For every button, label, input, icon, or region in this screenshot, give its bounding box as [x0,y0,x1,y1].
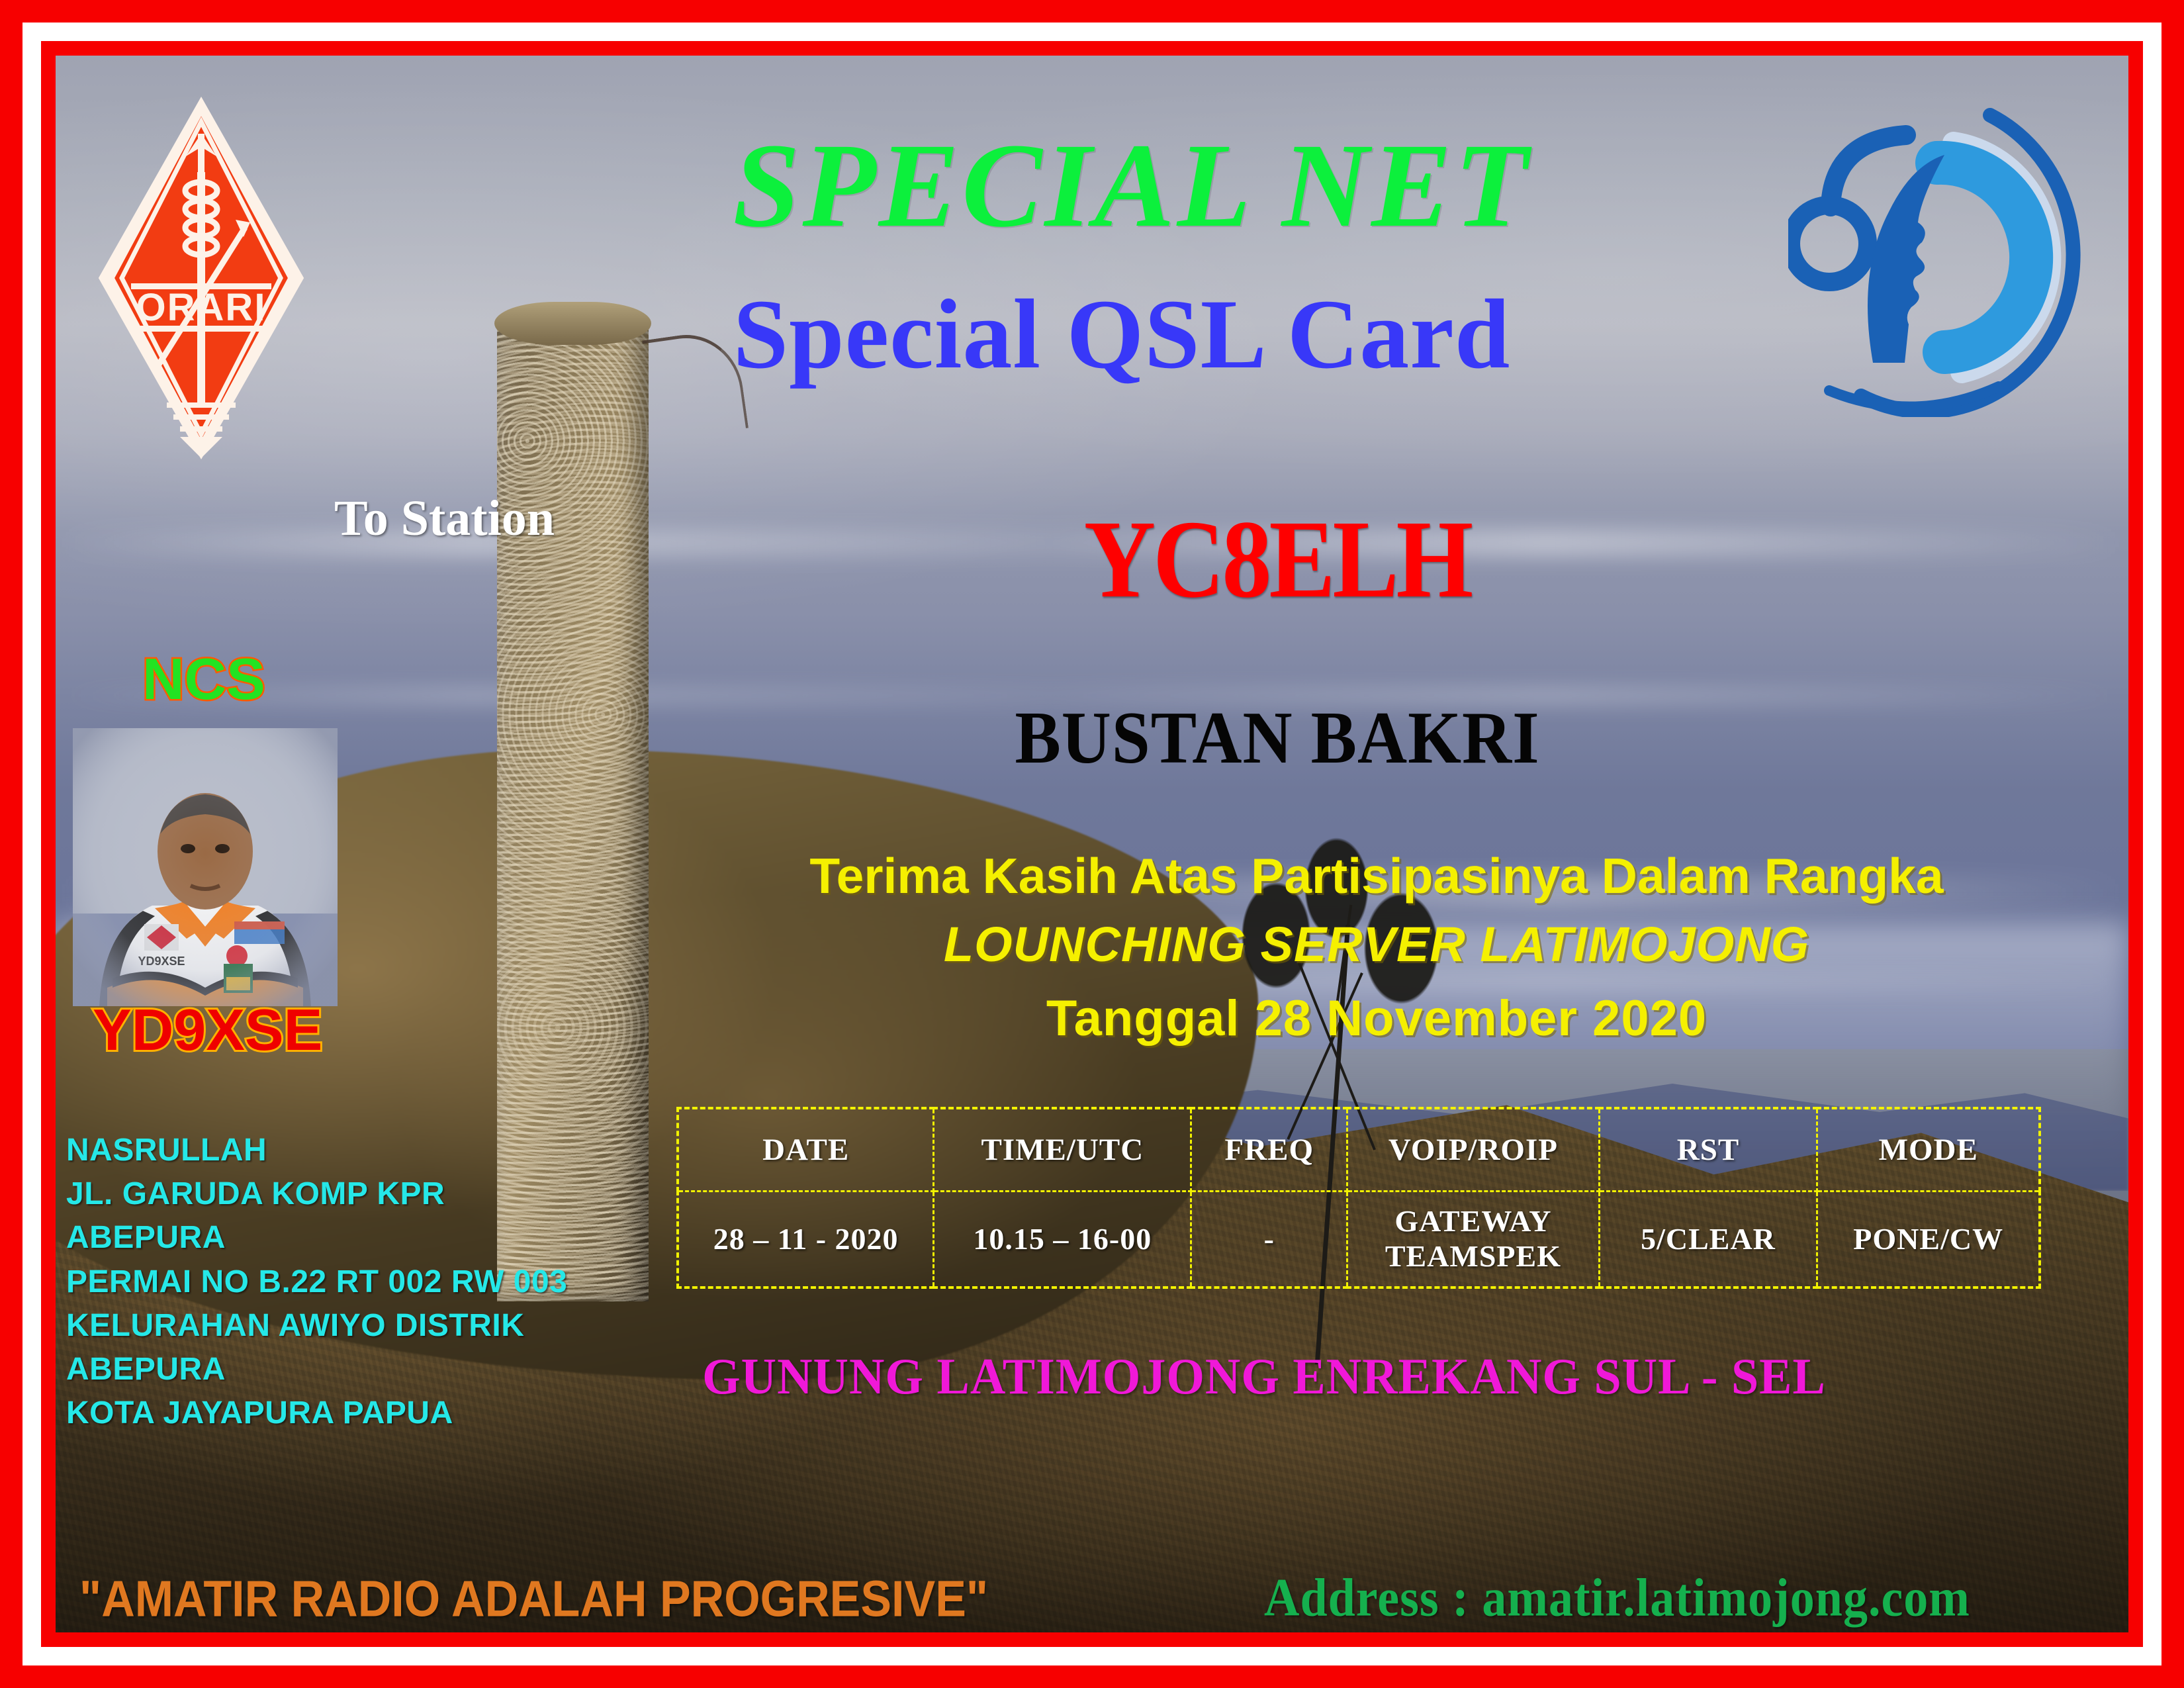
cell-voip-roip: GATEWAY TEAMSPEK [1347,1192,1599,1288]
event-name-line: LOUNCHING SERVER LATIMOJONG [715,916,2038,972]
cell-voip-roip-line1: GATEWAY [1349,1204,1597,1239]
address-line: ABEPURA [66,1348,567,1391]
operator-name: BUSTAN BAKRI [821,695,1734,780]
event-date-line: Tanggal 28 November 2020 [715,990,2038,1047]
page-subtitle: Special QSL Card [0,285,2184,384]
cell-time: 10.15 – 16-00 [934,1192,1191,1288]
location-line: GUNUNG LATIMOJONG ENREKANG SUL - SEL [635,1348,1893,1407]
address-line: PERMAI NO B.22 RT 002 RW 003 [66,1260,567,1304]
to-station-label: To Station [334,490,555,547]
address-line: KELURAHAN AWIYO DISTRIK [66,1304,567,1348]
column-header-freq: FREQ [1191,1108,1347,1192]
qso-log-table: DATE TIME/UTC FREQ VOIP/ROIP RST MODE 28… [676,1107,2041,1289]
ncs-label: NCS [142,645,265,713]
column-header-voip-roip: VOIP/ROIP [1347,1108,1599,1192]
ncs-callsign: YD9XSE [93,996,322,1064]
cell-voip-roip-line2: TEAMSPEK [1349,1239,1597,1274]
cell-freq: - [1191,1192,1347,1288]
card-content: ORARI [0,0,2184,1688]
footer-motto: "AMATIR RADIO ADALAH PROGRESIVE" [79,1570,988,1628]
address-line: ABEPURA [66,1216,567,1260]
column-header-rst: RST [1599,1108,1817,1192]
ncs-operator-photo: YD9XSE [73,728,338,1006]
table-header-row: DATE TIME/UTC FREQ VOIP/ROIP RST MODE [678,1108,2040,1192]
address-line: JL. GARUDA KOMP KPR [66,1172,567,1216]
column-header-mode: MODE [1817,1108,2040,1192]
event-thanks-line: Terima Kasih Atas Partisipasinya Dalam R… [715,847,2038,904]
page-title: SPECIAL NET [0,126,2184,246]
station-callsign: YC8ELH [979,504,1575,615]
column-header-time: TIME/UTC [934,1108,1191,1192]
cell-rst: 5/CLEAR [1599,1192,1817,1288]
station-address-block: NASRULLAH JL. GARUDA KOMP KPR ABEPURA PE… [66,1129,567,1436]
address-line: NASRULLAH [66,1129,567,1172]
cell-mode: PONE/CW [1817,1192,2040,1288]
table-row: 28 – 11 - 2020 10.15 – 16-00 - GATEWAY T… [678,1192,2040,1288]
cell-date: 28 – 11 - 2020 [678,1192,934,1288]
event-text-block: Terima Kasih Atas Partisipasinya Dalam R… [715,847,2038,1047]
column-header-date: DATE [678,1108,934,1192]
address-line: KOTA JAYAPURA PAPUA [66,1391,567,1435]
qsl-card: ORARI [0,0,2184,1688]
footer-web-address: Address : amatir.latimojong.com [1264,1568,1970,1630]
